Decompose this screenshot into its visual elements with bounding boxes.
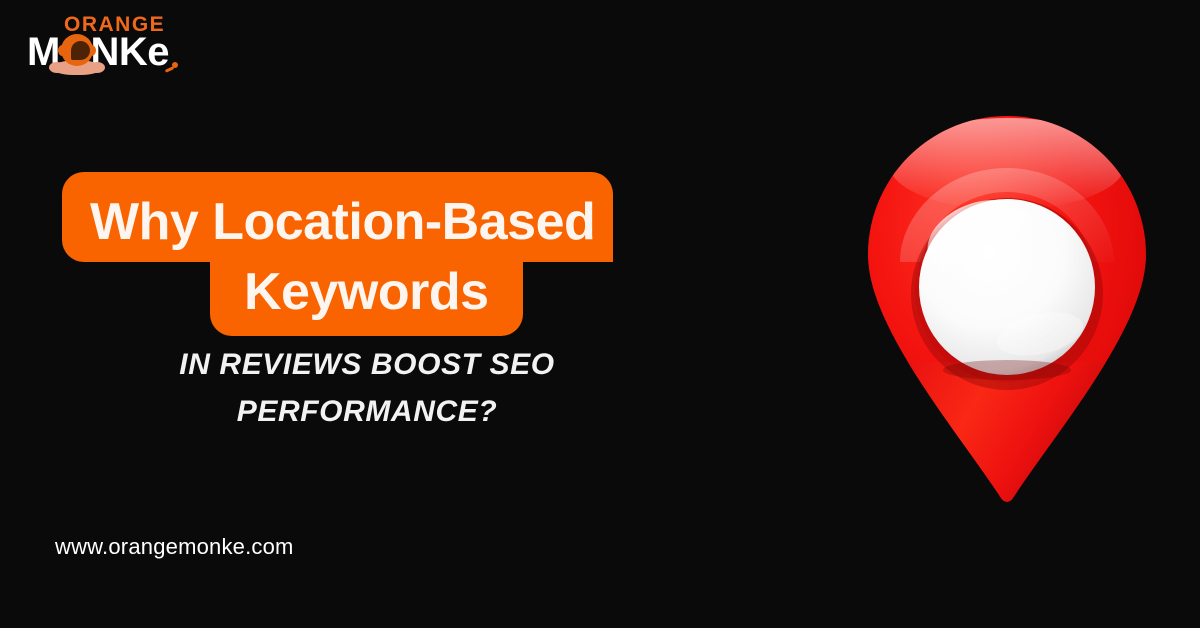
page-subtitle: IN REVIEWS BOOST SEO PERFORMANCE?	[62, 342, 672, 435]
monkey-head-shape	[61, 34, 93, 66]
social-banner: ORANGE MONKe Why Location-Based Keywords…	[0, 0, 1200, 628]
subtitle-line-1: IN REVIEWS BOOST SEO	[62, 342, 672, 389]
monkey-face-shape	[71, 41, 90, 60]
title-line-2: Keywords	[210, 262, 523, 336]
website-url[interactable]: www.orangemonke.com	[55, 534, 294, 560]
subtitle-line-2: PERFORMANCE?	[62, 389, 672, 436]
title-line-1: Why Location-Based	[62, 172, 613, 262]
map-pin-graphic	[862, 112, 1152, 507]
pin-knob-contact-shadow	[943, 360, 1071, 380]
brand-logo[interactable]: ORANGE MONKe	[22, 12, 182, 74]
monkey-icon	[59, 34, 95, 74]
monkey-arm-left	[49, 62, 65, 73]
pin-top-gloss	[889, 118, 1125, 210]
map-pin-icon	[862, 112, 1152, 507]
monkey-arm-right	[89, 62, 105, 73]
page-title: Why Location-Based Keywords	[62, 172, 702, 336]
monkey-ear-left	[58, 45, 67, 56]
